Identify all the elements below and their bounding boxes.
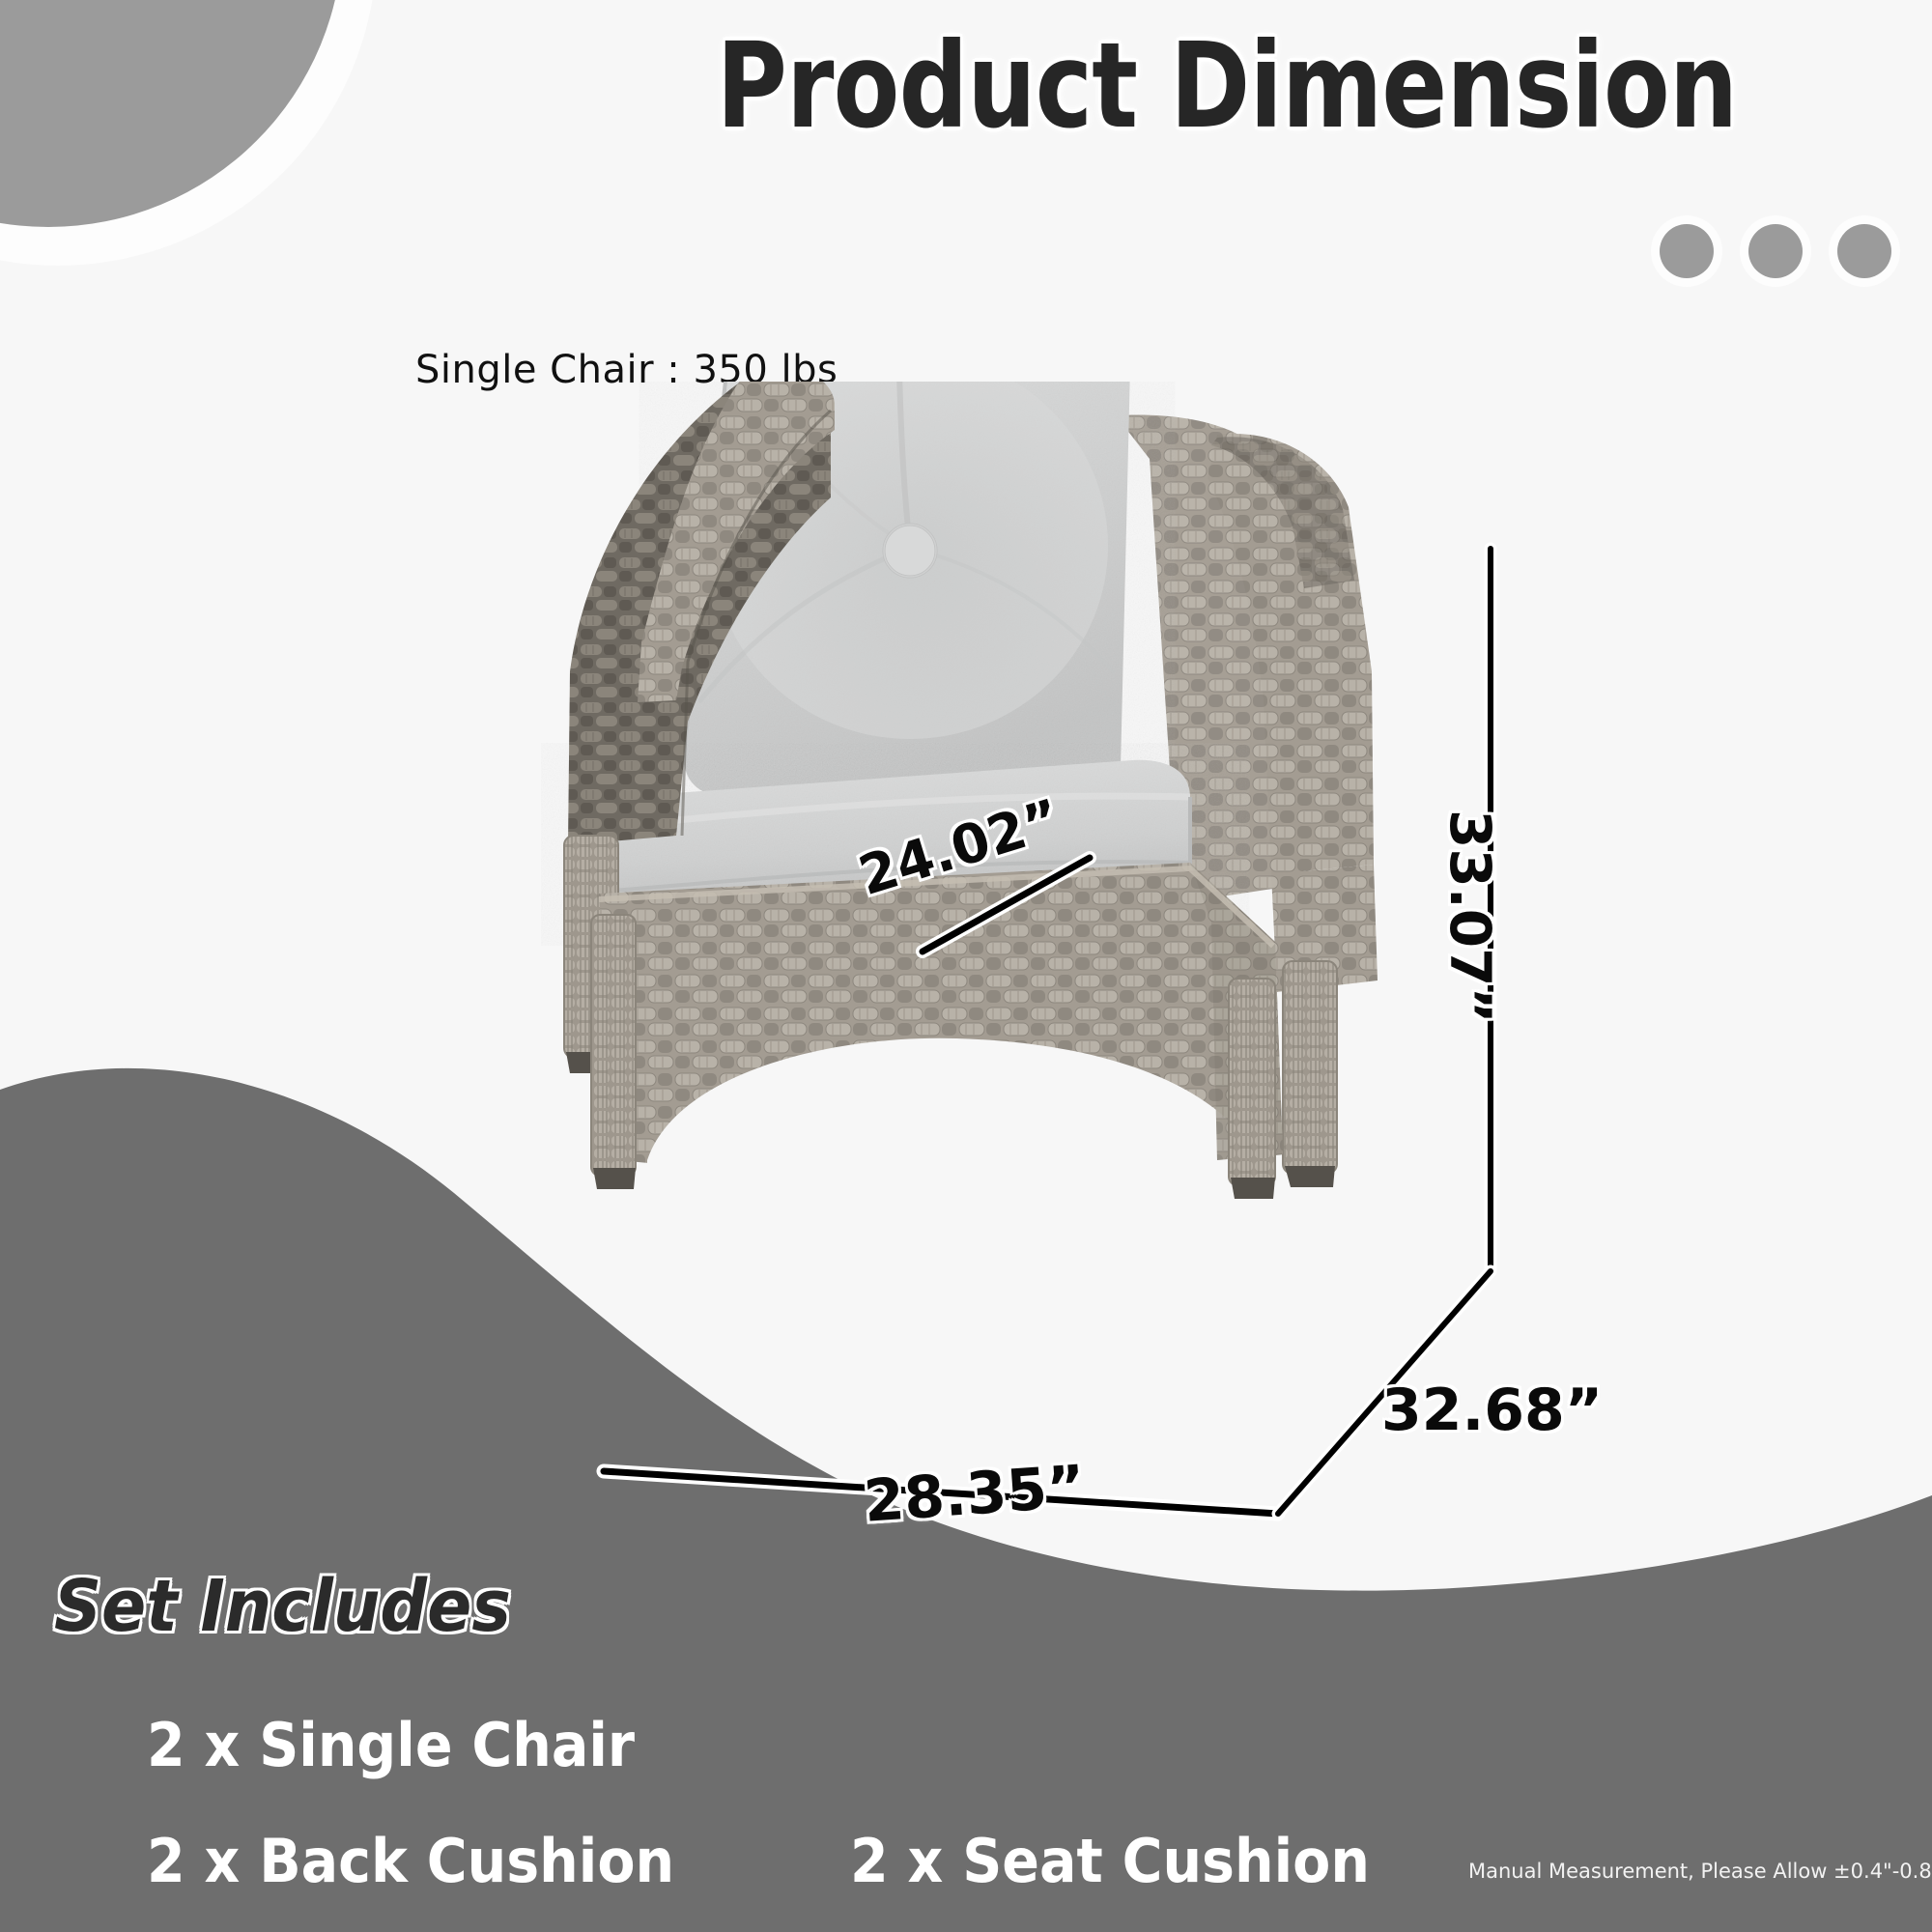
set-includes-item: 2 x Seat Cushion [850,1826,1370,1896]
measurement-disclaimer: Manual Measurement, Please Allow ±0.4"-0… [1468,1860,1932,1883]
dimension-label-overall-height: 33.07” [1437,810,1503,1024]
dimension-label-overall-depth: 32.68” [1381,1377,1603,1444]
infographic-canvas: Product Dimension Single Chair : 350 lbs [0,0,1932,1932]
set-includes-item: 2 x Back Cushion [147,1826,674,1896]
set-includes-item: 2 x Single Chair [147,1710,635,1780]
set-includes-title: Set Includes [54,1565,511,1648]
